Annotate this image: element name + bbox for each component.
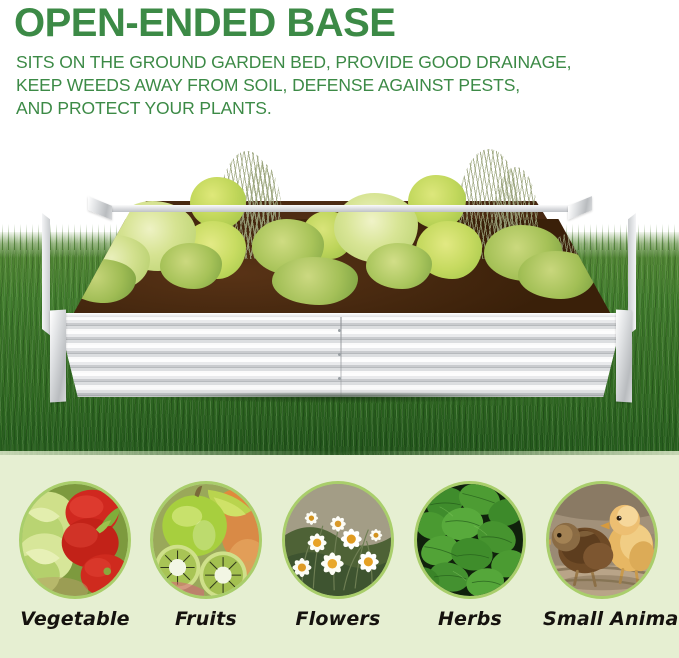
panel-bolt xyxy=(338,329,341,332)
corner-bracket-top-left xyxy=(88,196,112,220)
product-feature-poster: OPEN-ENDED BASE SITS ON THE GROUND GARDE… xyxy=(0,0,679,658)
leafy-greens-6 xyxy=(272,257,358,305)
corner-bracket-bottom-left xyxy=(50,309,66,402)
category-item-herbs: Herbs xyxy=(411,481,529,630)
category-item-flowers: Flowers xyxy=(279,481,397,630)
panel-bolt xyxy=(338,353,341,356)
bed-rim-left xyxy=(42,213,50,335)
subheading-line-1: SITS ON THE GROUND GARDEN BED, PROVIDE G… xyxy=(16,51,666,74)
subheading: SITS ON THE GROUND GARDEN BED, PROVIDE G… xyxy=(16,51,666,120)
category-label-herbs: Herbs xyxy=(411,608,529,630)
category-label-small-animals: Small Animals xyxy=(543,608,661,630)
page-title: OPEN-ENDED BASE xyxy=(14,1,395,45)
leafy-greens-5 xyxy=(66,259,136,303)
category-circle-row: Vegetable xyxy=(0,455,679,658)
small-animals-photo-icon xyxy=(546,481,658,599)
header-text-block: OPEN-ENDED BASE SITS ON THE GROUND GARDE… xyxy=(0,0,679,130)
subheading-line-2: KEEP WEEDS AWAY FROM SOIL, DEFENSE AGAIN… xyxy=(16,74,666,97)
leafy-greens-3 xyxy=(160,243,222,289)
bed-rim-back xyxy=(98,205,582,212)
flowers-photo-icon xyxy=(282,481,394,599)
category-strip: Vegetable xyxy=(0,455,679,658)
category-item-vegetable: Vegetable xyxy=(16,481,134,630)
leafy-greens-4 xyxy=(366,243,432,289)
category-item-small-animals: Small Animals xyxy=(543,481,661,630)
corner-bracket-bottom-right xyxy=(616,309,632,402)
category-label-flowers: Flowers xyxy=(279,608,397,630)
product-scene xyxy=(0,120,679,470)
herbs-photo-icon xyxy=(414,481,526,599)
fruits-photo-icon xyxy=(150,481,262,599)
vegetables-photo-icon xyxy=(19,481,131,599)
planted-greens xyxy=(66,147,618,327)
category-label-fruits: Fruits xyxy=(147,608,265,630)
panel-bolt xyxy=(338,377,341,380)
corner-bracket-top-right xyxy=(568,196,592,220)
category-label-vegetable: Vegetable xyxy=(16,608,134,630)
leafy-greens-7 xyxy=(518,251,596,299)
subheading-line-3: AND PROTECT YOUR PLANTS. xyxy=(16,97,666,120)
bed-ground-shadow xyxy=(56,391,628,407)
raised-garden-bed xyxy=(28,195,653,410)
category-item-fruits: Fruits xyxy=(147,481,265,630)
